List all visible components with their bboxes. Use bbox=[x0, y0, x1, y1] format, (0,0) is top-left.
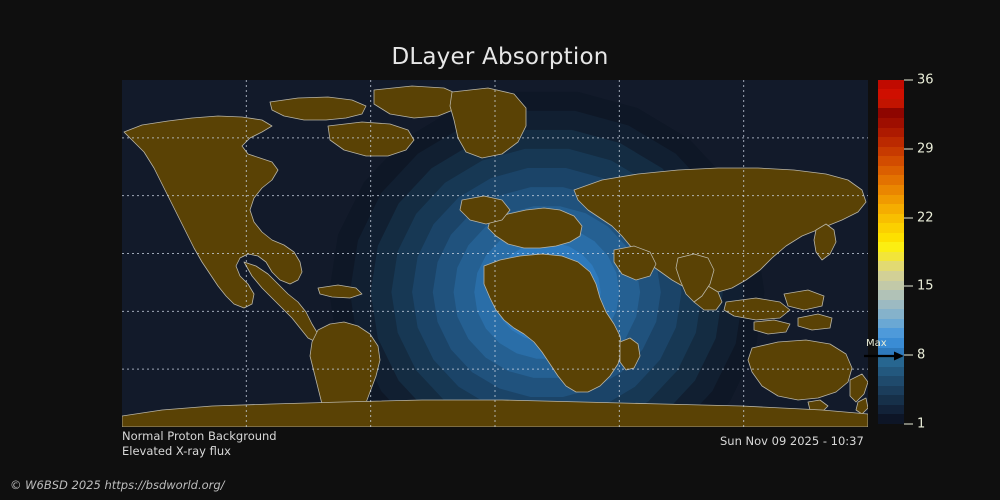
colorbar-tick-dash bbox=[904, 148, 913, 149]
colorbar-tick-label: 1 bbox=[917, 417, 925, 432]
colorbar-segment bbox=[878, 175, 904, 185]
page-title: DLayer Absorption bbox=[0, 44, 1000, 70]
max-marker: Max bbox=[864, 339, 908, 363]
colorbar-segment bbox=[878, 252, 904, 262]
colorbar-segment bbox=[878, 128, 904, 138]
status-line-xray: Elevated X-ray flux bbox=[122, 444, 277, 459]
colorbar-tick-dash bbox=[904, 217, 913, 218]
colorbar-segment bbox=[878, 386, 904, 396]
colorbar-segment bbox=[878, 328, 904, 338]
timestamp: Sun Nov 09 2025 - 10:37 bbox=[720, 434, 864, 448]
colorbar-tick-dash bbox=[904, 80, 913, 81]
colorbar-segment bbox=[878, 147, 904, 157]
colorbar-segment bbox=[878, 395, 904, 405]
colorbar-segment bbox=[878, 290, 904, 300]
colorbar-segment bbox=[878, 214, 904, 224]
colorbar-tick: 15 bbox=[904, 279, 934, 294]
colorbar-segment bbox=[878, 261, 904, 271]
colorbar-tick-label: 29 bbox=[917, 141, 934, 156]
colorbar-segment bbox=[878, 309, 904, 319]
colorbar-gradient bbox=[878, 80, 904, 424]
colorbar-segment bbox=[878, 242, 904, 252]
colorbar-segment bbox=[878, 271, 904, 281]
max-marker-label: Max bbox=[866, 338, 887, 349]
map-canvas bbox=[122, 80, 868, 427]
colorbar-segment bbox=[878, 80, 904, 90]
colorbar-segment bbox=[878, 281, 904, 291]
colorbar-tick: 1 bbox=[904, 417, 925, 432]
colorbar-tick-label: 36 bbox=[917, 73, 934, 88]
colorbar-segment bbox=[878, 89, 904, 99]
world-map[interactable] bbox=[122, 80, 868, 427]
colorbar-segment bbox=[878, 118, 904, 128]
colorbar-tick: 29 bbox=[904, 141, 934, 156]
colorbar-segment bbox=[878, 367, 904, 377]
status-line-proton: Normal Proton Background bbox=[122, 429, 277, 444]
colorbar[interactable] bbox=[878, 80, 904, 424]
colorbar-tick: 36 bbox=[904, 73, 934, 88]
colorbar-segment bbox=[878, 319, 904, 329]
colorbar-segment bbox=[878, 137, 904, 147]
arrow-right-icon bbox=[864, 350, 908, 362]
colorbar-segment bbox=[878, 233, 904, 243]
colorbar-tick-dash bbox=[904, 424, 913, 425]
colorbar-segment bbox=[878, 376, 904, 386]
colorbar-segment bbox=[878, 185, 904, 195]
colorbar-segment bbox=[878, 156, 904, 166]
colorbar-ticks: 1815222936 bbox=[904, 80, 974, 424]
colorbar-segment bbox=[878, 204, 904, 214]
colorbar-segment bbox=[878, 99, 904, 109]
colorbar-segment bbox=[878, 300, 904, 310]
colorbar-tick-label: 22 bbox=[917, 210, 934, 225]
colorbar-segment bbox=[878, 108, 904, 118]
colorbar-segment bbox=[878, 223, 904, 233]
app-root: DLayer Absorption bbox=[0, 0, 1000, 500]
colorbar-tick-dash bbox=[904, 286, 913, 287]
colorbar-tick-label: 8 bbox=[917, 348, 925, 363]
colorbar-tick-label: 15 bbox=[917, 279, 934, 294]
colorbar-segment bbox=[878, 166, 904, 176]
colorbar-segment bbox=[878, 195, 904, 205]
colorbar-segment bbox=[878, 414, 904, 424]
colorbar-segment bbox=[878, 405, 904, 415]
status-text: Normal Proton Background Elevated X-ray … bbox=[122, 429, 277, 459]
copyright-notice: © W6BSD 2025 https://bsdworld.org/ bbox=[10, 478, 225, 492]
colorbar-tick: 22 bbox=[904, 210, 934, 225]
